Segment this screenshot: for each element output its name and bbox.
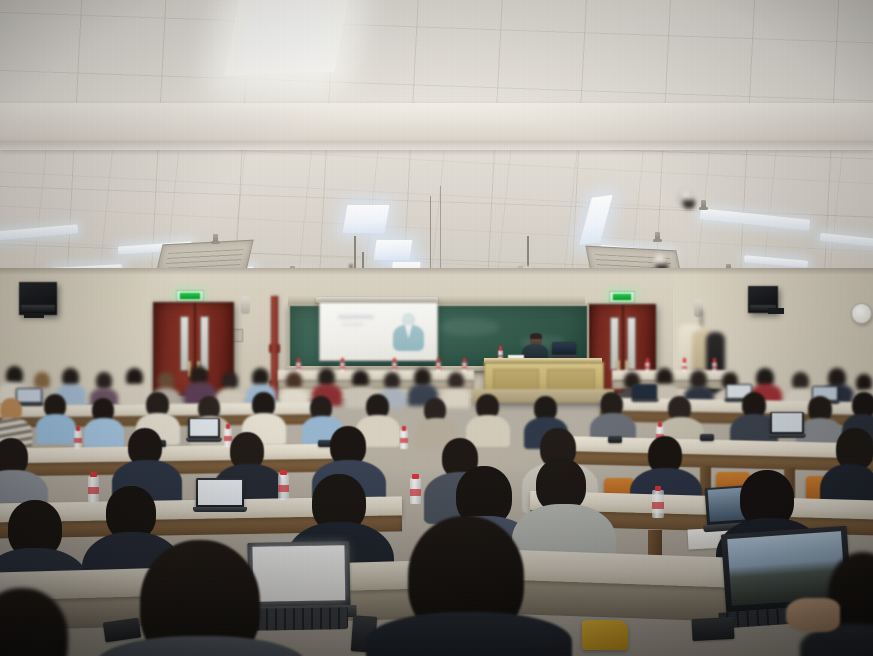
student-torso xyxy=(466,415,510,447)
yellow-folder[interactable] xyxy=(582,620,628,650)
sprinkler-head-3 xyxy=(701,200,706,209)
laptop-screen xyxy=(553,343,575,354)
table-bottle xyxy=(712,362,717,372)
smartphone[interactable] xyxy=(700,434,714,441)
lecturer-hair xyxy=(530,333,542,339)
laptop-lid xyxy=(16,388,42,403)
laptop-lid xyxy=(196,478,244,507)
water-bottle[interactable] xyxy=(400,430,408,449)
student-laptop[interactable] xyxy=(770,412,804,438)
attendee-hand xyxy=(786,598,840,632)
laptop-screen xyxy=(253,545,346,602)
dome-camera-far xyxy=(653,254,666,269)
laptop-lid xyxy=(247,541,350,607)
laptop-screen xyxy=(190,419,219,436)
laptop-lid xyxy=(770,412,804,434)
laptop-lid xyxy=(188,418,220,438)
student-torso xyxy=(36,414,76,444)
sprinkler-head-2 xyxy=(655,232,660,241)
laptop-base xyxy=(186,438,222,442)
lecture-hall-photo xyxy=(0,0,873,656)
table-bottle xyxy=(645,362,650,372)
smartphone-foreground-left[interactable] xyxy=(103,618,141,643)
sprinkler-head-1 xyxy=(213,234,218,243)
laptop-screen xyxy=(198,480,241,505)
ceiling-beam-secondary xyxy=(0,141,873,150)
laptop-base xyxy=(768,434,806,438)
attendee-torso xyxy=(366,612,572,656)
water-bottle[interactable] xyxy=(278,474,289,500)
laptop-screen xyxy=(772,413,803,432)
laptop-base xyxy=(631,399,659,402)
slide-subtitle-text xyxy=(342,323,364,326)
wall-ceiling-shadow xyxy=(0,268,873,275)
student-laptop[interactable] xyxy=(632,384,657,402)
laptop-lid xyxy=(552,342,576,355)
projection-screen[interactable] xyxy=(319,302,438,361)
wall-speaker-left xyxy=(19,282,57,315)
lecturer xyxy=(522,333,548,361)
laptop-base xyxy=(193,507,247,512)
student-torso xyxy=(442,388,470,408)
table-bottle xyxy=(436,362,441,372)
table-bottle xyxy=(340,362,345,372)
front-table-left-front xyxy=(278,380,474,389)
light-panel-top-glow xyxy=(239,0,330,65)
ceiling-beam xyxy=(0,103,873,141)
exit-sign-light xyxy=(613,294,631,300)
table-bottle xyxy=(296,362,301,372)
exit-sign-light xyxy=(180,293,200,299)
water-bottle[interactable] xyxy=(410,478,421,504)
water-bottle[interactable] xyxy=(88,476,99,502)
standpipe-joint xyxy=(269,344,280,353)
laptop-lid xyxy=(632,384,657,399)
student-laptop[interactable] xyxy=(196,478,244,512)
student-laptop[interactable] xyxy=(188,418,220,442)
smartphone[interactable] xyxy=(608,436,622,443)
laptop-screen xyxy=(633,385,656,398)
slide-title-text xyxy=(338,315,374,319)
door-glass-pane xyxy=(200,316,209,371)
table-bottle xyxy=(462,362,467,372)
door-glass-pane xyxy=(627,317,636,370)
table-bottle xyxy=(392,362,397,372)
speaker-bracket-right xyxy=(768,308,784,314)
water-bottle[interactable] xyxy=(652,490,664,518)
laptop-screen xyxy=(17,389,40,402)
laptop-keyboard[interactable] xyxy=(250,607,348,631)
exit-sign-left xyxy=(176,290,204,302)
exit-sign-right xyxy=(609,291,635,303)
table-bottle xyxy=(682,362,687,372)
wall-sensor-left xyxy=(241,296,250,314)
chalk-smudge xyxy=(440,318,500,336)
dome-camera-far-right xyxy=(680,190,692,204)
speaker-bracket-left xyxy=(24,313,44,318)
wall-clock xyxy=(851,303,872,324)
water-bottle[interactable] xyxy=(74,430,82,449)
light-panel-2 xyxy=(374,240,413,260)
smartphone-foreground-right[interactable] xyxy=(691,617,734,641)
student-torso xyxy=(84,418,124,448)
light-panel-1 xyxy=(343,205,390,233)
lecturer-laptop[interactable] xyxy=(552,342,576,358)
